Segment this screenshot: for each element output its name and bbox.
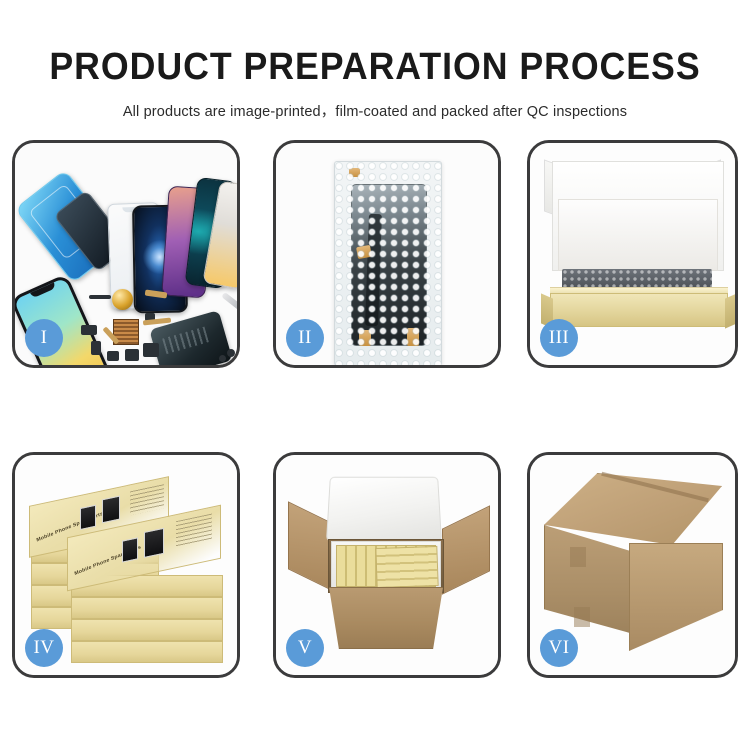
bubble-texture bbox=[335, 162, 441, 365]
button-part-icon bbox=[125, 349, 139, 361]
screw-2-icon bbox=[219, 355, 226, 362]
bubble-wrap-bag-icon bbox=[334, 161, 442, 365]
screw-icon bbox=[227, 349, 235, 357]
process-step-2: II bbox=[273, 140, 501, 368]
process-step-6: VI bbox=[527, 452, 738, 678]
copper-coil-icon bbox=[112, 289, 133, 310]
process-step-1: I bbox=[12, 140, 240, 368]
stacked-box bbox=[71, 619, 223, 641]
process-step-4: Mobile Phone Spare Parts Mobile Phone Sp… bbox=[12, 452, 240, 678]
step-badge-1: I bbox=[25, 319, 63, 357]
step-badge-5: V bbox=[286, 629, 324, 667]
white-foam-sheet-icon bbox=[558, 199, 718, 271]
connector-part-icon bbox=[81, 325, 97, 335]
packed-yellow-boxes-2-icon bbox=[375, 546, 438, 588]
foam-lid-icon bbox=[326, 477, 442, 542]
box-spec-lines bbox=[176, 514, 212, 548]
stacked-box bbox=[71, 641, 223, 663]
box-artwork-screen bbox=[102, 496, 120, 524]
product-preparation-infographic: PRODUCT PREPARATION PROCESS All products… bbox=[0, 0, 750, 750]
camera-module-icon bbox=[143, 343, 159, 357]
stacked-box bbox=[71, 597, 223, 619]
step-badge-4: IV bbox=[25, 629, 63, 667]
carton-tape-lower-icon bbox=[574, 607, 590, 627]
step-badge-2: II bbox=[286, 319, 324, 357]
box-spec-lines bbox=[130, 484, 164, 515]
yellow-box-front-icon bbox=[550, 293, 728, 327]
process-step-5: V bbox=[273, 452, 501, 678]
process-grid: I II bbox=[0, 0, 750, 750]
box-artwork-screen bbox=[122, 537, 138, 562]
step-badge-3: III bbox=[540, 319, 578, 357]
step-badge-6: VI bbox=[540, 629, 578, 667]
process-step-3: III bbox=[527, 140, 738, 368]
box-artwork-screen bbox=[144, 528, 164, 558]
speaker-part-icon bbox=[89, 295, 111, 299]
bracket-part-icon bbox=[107, 351, 119, 361]
box-artwork-screen bbox=[80, 505, 96, 530]
carton-front-panel-icon bbox=[324, 587, 448, 649]
small-part-icon bbox=[91, 341, 101, 355]
carton-tape-upper-icon bbox=[570, 547, 586, 567]
